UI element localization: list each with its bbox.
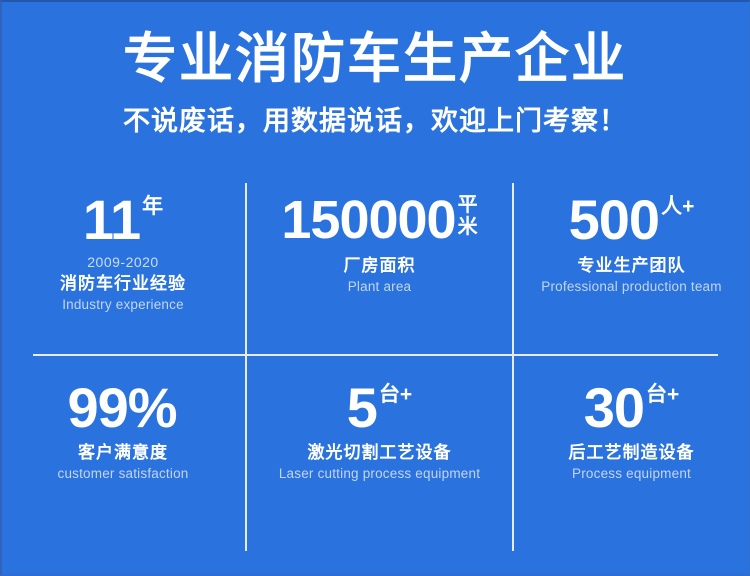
stat-label-en: Professional production team <box>541 277 721 296</box>
page-title: 专业消防车生产企业 <box>0 26 750 92</box>
stat-cell-production-team: 500 人+ 专业生产团队 Professional production te… <box>513 175 750 355</box>
stat-value-row: 99% <box>67 379 178 437</box>
stat-cell-customer-satisfaction: 99% 客户满意度 customer satisfaction <box>0 355 246 535</box>
page-subtitle: 不说废话，用数据说话，欢迎上门考察！ <box>0 104 750 138</box>
stat-range: 2009-2020 <box>87 253 158 271</box>
stat-label-cn: 后工艺制造设备 <box>569 441 695 464</box>
stat-unit-line2: 米 <box>458 216 478 238</box>
stat-value: 99% <box>67 379 176 437</box>
stat-value: 500 <box>569 191 659 249</box>
stat-value-row: 500 人+ <box>569 191 695 249</box>
stat-value: 30 <box>584 379 644 437</box>
stat-label-cn: 激光切割工艺设备 <box>308 441 452 464</box>
stat-unit: 台+ <box>379 383 412 407</box>
stat-label-en: Industry experience <box>62 295 184 314</box>
stat-unit: 平 米 <box>458 194 478 238</box>
stat-value-row: 30 台+ <box>584 379 680 437</box>
stat-label-cn: 专业生产团队 <box>578 254 686 277</box>
stat-unit: 年 <box>142 195 163 219</box>
stat-cell-laser-cutting-equipment: 5 台+ 激光切割工艺设备 Laser cutting process equi… <box>246 355 513 535</box>
stat-value: 11 <box>83 191 140 249</box>
stat-label-cn: 厂房面积 <box>344 254 416 277</box>
stat-value-row: 11 年 <box>83 191 163 249</box>
stats-grid: 11 年 2009-2020 消防车行业经验 Industry experien… <box>0 175 750 560</box>
stat-cell-plant-area: 150000 平 米 厂房面积 Plant area <box>246 175 513 355</box>
banner-heading: 专业消防车生产企业 不说废话，用数据说话，欢迎上门考察！ <box>0 26 750 138</box>
stat-label-en: Plant area <box>348 277 412 296</box>
stat-cell-process-equipment: 30 台+ 后工艺制造设备 Process equipment <box>513 355 750 535</box>
stat-label-en: Process equipment <box>572 464 691 483</box>
stat-unit: 人+ <box>661 195 694 219</box>
stat-value: 5 <box>347 379 377 437</box>
stat-value: 150000 <box>281 191 455 249</box>
stat-unit-line1: 平 <box>458 194 478 216</box>
stat-value-row: 150000 平 米 <box>281 191 477 249</box>
stat-cell-industry-experience: 11 年 2009-2020 消防车行业经验 Industry experien… <box>0 175 246 355</box>
stat-unit: 台+ <box>646 383 679 407</box>
stat-label-cn: 客户满意度 <box>78 441 168 464</box>
stat-label-cn: 消防车行业经验 <box>60 272 186 295</box>
company-stats-banner: 专业消防车生产企业 不说废话，用数据说话，欢迎上门考察！ 11 年 2009-2… <box>0 0 750 576</box>
stat-label-en: customer satisfaction <box>58 464 189 483</box>
stat-label-en: Laser cutting process equipment <box>279 464 480 483</box>
stat-value-row: 5 台+ <box>347 379 412 437</box>
